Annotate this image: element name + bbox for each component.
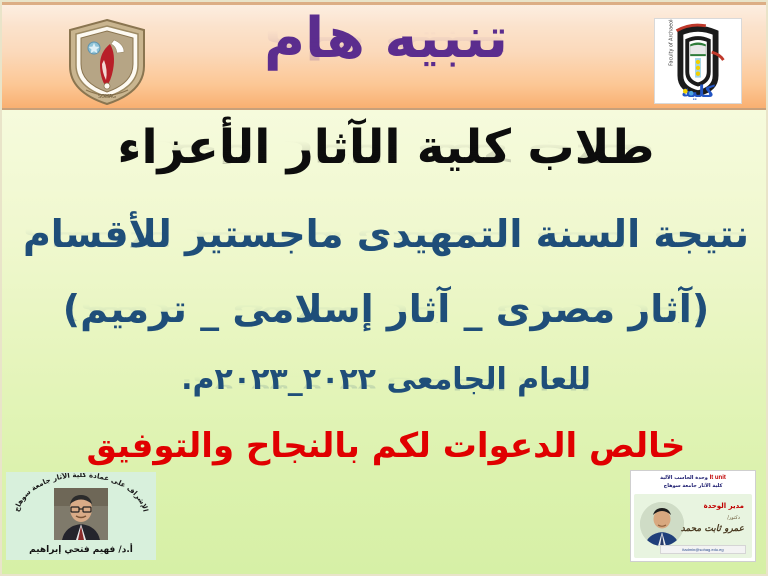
it-manager-portrait-icon — [640, 502, 684, 546]
it-unit-name-ar: وحدة الحاسب الآلية — [660, 475, 708, 481]
announcement-body: طلاب كلية الآثار الأعزاء طلاب كلية الآثا… — [2, 114, 768, 463]
announcement-poster: SOHAG تنبيه هام تنبيه هام Faculty of Arc… — [0, 0, 768, 576]
academic-year-line-reflection: للعام الجامعى ٢٠٢٢_٢٠٢٣م. — [2, 376, 768, 391]
it-unit-body: مدير الوحدة دكتور/ عمرو ثابت محمد itadmi… — [634, 494, 752, 558]
congratulations-line: خالص الدعوات لكم بالنجاح والتوفيق — [2, 429, 768, 463]
departments-line-reflection: (آثار مصرى _ آثار إسلامى _ ترميم) — [2, 304, 768, 323]
it-manager-signature-label: دكتور/ — [727, 515, 740, 521]
svg-text:Faculty of Archaeology: Faculty of Archaeology — [669, 19, 675, 66]
faculty-of-archaeology-logo-icon: Faculty of Archaeology كلية — [654, 18, 742, 104]
svg-text:SOHAG: SOHAG — [98, 94, 116, 100]
greeting-line-reflection: طلاب كلية الآثار الأعزاء — [2, 141, 768, 165]
dean-name: أ.د/ فهيم فتحي إبراهيم — [6, 545, 156, 555]
header-band: SOHAG تنبيه هام تنبيه هام Faculty of Arc… — [2, 2, 768, 110]
it-manager-role: مدير الوحدة — [704, 502, 744, 510]
it-unit-email: itadmin@sohag.edu.eg — [660, 545, 746, 554]
it-unit-faculty-line: كلية الآثار جامعة سوهاج — [634, 482, 752, 490]
it-unit-name-en: It unit — [710, 475, 726, 481]
it-unit-card: It unit وحدة الحاسب الآلية كلية الآثار ج… — [630, 470, 756, 562]
dean-signature-card: الإشراف على عمادة كلية الآثار جامعة سوها… — [6, 472, 156, 560]
dean-portrait-icon — [54, 488, 108, 540]
it-manager-signature: عمرو ثابت محمد — [681, 524, 744, 534]
it-unit-name-row: It unit وحدة الحاسب الآلية — [634, 474, 752, 482]
it-unit-header: It unit وحدة الحاسب الآلية كلية الآثار ج… — [634, 474, 752, 494]
result-line-reflection: نتيجة السنة التمهيدى ماجستير للأقسام — [2, 229, 768, 248]
university-shield-crest-icon: SOHAG — [66, 18, 148, 106]
